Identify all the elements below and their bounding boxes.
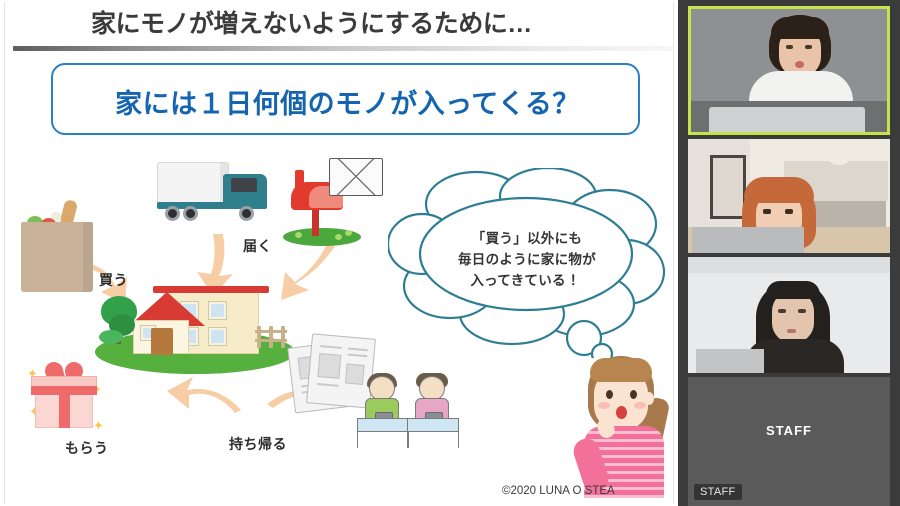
student-figure: [357, 370, 409, 448]
grass-tuft: [295, 232, 302, 238]
girl-illustration: [572, 350, 676, 498]
label-receive: もらう: [65, 438, 109, 458]
shopping-bag-icon: [21, 200, 93, 292]
mailbox-post-shape: [312, 208, 319, 236]
video-tile-participant-4[interactable]: STAFF STAFF: [688, 377, 890, 506]
ribbon-horizontal-shape: [31, 386, 97, 395]
students-at-desks-icon: [357, 370, 469, 448]
fence-icon: [255, 326, 287, 348]
house-window: [209, 302, 226, 319]
slide-canvas: 家にモノが増えないようにするために… 家には１日何個のモノが入ってくる？: [4, 2, 674, 504]
thought-bubble: 「買う」以外にも 毎日のように家に物が 入ってきている ！: [388, 168, 666, 358]
video-feed: [688, 257, 890, 373]
delivery-truck-icon: [157, 162, 269, 228]
cheek-shape: [634, 402, 646, 409]
house-icon: [95, 270, 295, 380]
participant-name-badge: STAFF: [694, 484, 742, 500]
bangs-shape: [590, 358, 652, 382]
video-participants-panel: STAFF STAFF: [678, 0, 900, 506]
truck-wheel: [165, 206, 180, 221]
video-tile-participant-1[interactable]: [688, 6, 890, 135]
desk-legs-shape: [407, 430, 459, 448]
video-tile-participant-2[interactable]: [688, 139, 890, 253]
label-bring-home: 持ち帰る: [229, 434, 287, 454]
bubble-line-1: 「買う」以外にも: [422, 228, 632, 249]
house-window: [209, 328, 226, 345]
screen-root: 家にモノが増えないようにするために… 家には１日何個のモノが入ってくる？: [0, 0, 900, 506]
video-feed: [688, 139, 890, 253]
title-divider: [13, 46, 673, 51]
slide-title: 家にモノが増えないようにするために…: [91, 8, 651, 40]
truck-wheel: [239, 206, 254, 221]
copyright-text: ©2020 LUNA O STEA: [502, 485, 615, 497]
flow-diagram: 買う: [5, 142, 678, 506]
shared-slide: 家にモノが増えないようにするために… 家には１日何個のモノが入ってくる？: [0, 0, 678, 506]
news-photo-block: [317, 353, 341, 379]
headline-text: 家には１日何個のモノが入ってくる？: [53, 65, 642, 137]
sparkle-icon: ✦: [93, 418, 104, 434]
mouth-shape: [616, 406, 627, 419]
headline-box: 家には１日何個のモノが入ってくる？: [51, 63, 640, 135]
student-figure: [407, 370, 459, 448]
desk-legs-shape: [357, 430, 409, 448]
eye-shape: [630, 390, 637, 399]
bush-shape: [99, 330, 123, 344]
thought-bubble-text: 「買う」以外にも 毎日のように家に物が 入ってきている ！: [422, 228, 632, 291]
eye-shape: [606, 390, 613, 399]
truck-cargo-shape: [157, 162, 229, 206]
truck-wheel: [183, 206, 198, 221]
label-deliver: 届く: [243, 236, 272, 256]
grass-tuft: [335, 234, 342, 240]
gift-box-icon: ✦ ✦ ✦ ✦: [27, 360, 101, 434]
video-feed: [691, 9, 887, 132]
bag-body-shape: [21, 222, 93, 292]
envelope-icon: [329, 158, 383, 196]
grass-tuft: [345, 230, 352, 236]
participant-name-center: STAFF: [688, 423, 890, 438]
house-door-shape: [151, 328, 173, 355]
envelope-flap-shape: [330, 159, 382, 195]
cheek-shape: [598, 402, 610, 409]
bubble-line-2: 毎日のように家に物が: [422, 249, 632, 270]
truck-window-shape: [231, 178, 257, 192]
bubble-line-3: 入ってきている ！: [422, 270, 632, 291]
house-roofline-shape: [153, 286, 269, 293]
video-tile-participant-3[interactable]: [688, 257, 890, 373]
ear-shape: [644, 392, 654, 405]
